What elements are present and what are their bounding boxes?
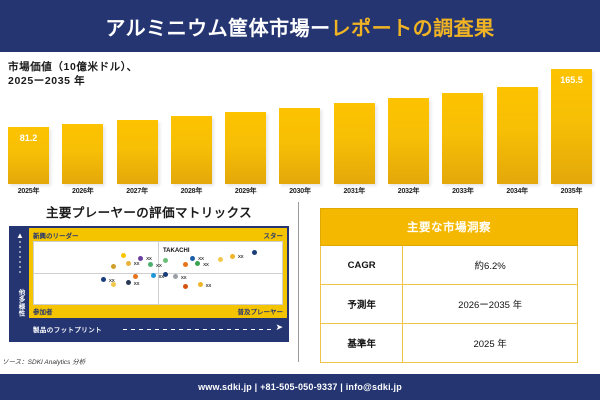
bar-column bbox=[225, 62, 266, 184]
matrix-data-point bbox=[230, 254, 235, 259]
y-axis-dashed-line bbox=[20, 241, 21, 275]
matrix-data-point-label: XX bbox=[206, 283, 212, 288]
x-axis-tick-label: 2030年 bbox=[279, 186, 320, 200]
matrix-data-point bbox=[148, 262, 153, 267]
matrix-data-point bbox=[111, 264, 116, 269]
section-divider bbox=[298, 202, 299, 362]
insight-value-cell: 約6.2% bbox=[403, 246, 578, 285]
bar bbox=[334, 103, 375, 184]
matrix-data-point bbox=[101, 277, 106, 282]
matrix-data-point bbox=[138, 256, 143, 261]
key-insights-section: 主要な市場洞察 CAGR約6.2%予測年2026ー2035 年基準年2025 年 bbox=[298, 200, 600, 368]
key-insights-body: CAGR約6.2%予測年2026ー2035 年基準年2025 年 bbox=[321, 246, 578, 363]
quadrant-label-participants: 参加者 bbox=[33, 306, 53, 316]
bar-column bbox=[279, 62, 320, 184]
x-axis-tick-label: 2029年 bbox=[225, 186, 266, 200]
x-axis-tick-label: 2025年 bbox=[8, 186, 49, 200]
page-title-accent: レポートの調査果 bbox=[331, 18, 495, 40]
matrix-data-point bbox=[190, 256, 195, 261]
bar bbox=[225, 112, 266, 184]
page-title: アルミニウム筐体市場ーレポートの調査果 bbox=[105, 12, 494, 41]
x-axis-tick-label: 2035年 bbox=[551, 186, 592, 200]
quadrant-label-emerging-leaders: 新興のリーダー bbox=[33, 230, 79, 240]
source-note: ソース：SDKI Analytics 分析 bbox=[2, 356, 85, 366]
x-axis-tick-label: 2031年 bbox=[334, 186, 375, 200]
matrix-data-point bbox=[173, 274, 178, 279]
bar-column bbox=[388, 62, 429, 184]
x-axis-dashed-line bbox=[123, 329, 271, 330]
x-axis-tick-label: 2027年 bbox=[117, 186, 158, 200]
matrix-data-point-label: XX bbox=[238, 254, 244, 259]
bar-column: 165.5 bbox=[551, 62, 592, 184]
matrix-scatter-plot: TAKACHI XXXXXXXXXXXXXXXXXXXXXX bbox=[33, 241, 283, 305]
quadrant-label-stars: スター bbox=[264, 230, 284, 240]
bar bbox=[442, 93, 483, 184]
matrix-data-point bbox=[126, 280, 131, 285]
x-axis-tick-label: 2034年 bbox=[497, 186, 538, 200]
x-axis-tick-label: 2026年 bbox=[62, 186, 103, 200]
matrix-data-point bbox=[151, 273, 156, 278]
evaluation-matrix-section: 主要プレーヤーの評価マトリックス ▲ 他多様性・原価 新興のリーダー スター 参… bbox=[0, 200, 298, 368]
table-row: 予測年2026ー2035 年 bbox=[321, 285, 578, 324]
matrix-data-point-label: XX bbox=[146, 256, 152, 261]
matrix-quadrant-area: 新興のリーダー スター 参加者 普及プレーヤー TAKACHI XXXXXXXX… bbox=[29, 228, 287, 318]
x-axis-arrow-icon: ➤ bbox=[275, 323, 283, 332]
bar-chart-section: 市場価値（10億米ドル）、 2025ー2035 年 81.2165.5 2025… bbox=[0, 52, 600, 200]
page-footer: www.sdki.jp | +81-505-050-9337 | info@sd… bbox=[0, 374, 600, 400]
x-axis-tick-label: 2032年 bbox=[388, 186, 429, 200]
key-insights-table: 主要な市場洞察 CAGR約6.2%予測年2026ー2035 年基準年2025 年 bbox=[320, 208, 578, 363]
bar bbox=[62, 124, 103, 184]
insight-value-cell: 2025 年 bbox=[403, 324, 578, 363]
matrix-data-point bbox=[183, 284, 188, 289]
footer-contact-text: www.sdki.jp | +81-505-050-9337 | info@sd… bbox=[198, 382, 402, 392]
bar-chart-x-axis: 2025年2026年2027年2028年2029年2030年2031年2032年… bbox=[8, 186, 592, 200]
insight-value-cell: 2026ー2035 年 bbox=[403, 285, 578, 324]
table-row: 基準年2025 年 bbox=[321, 324, 578, 363]
matrix-data-point-label: XX bbox=[203, 262, 209, 267]
y-axis-arrow-icon: ▲ bbox=[16, 232, 24, 240]
bar bbox=[117, 120, 158, 184]
matrix-data-point-label: XX bbox=[181, 275, 187, 280]
bar-column bbox=[171, 62, 212, 184]
bar-column bbox=[117, 62, 158, 184]
page-header: アルミニウム筐体市場ーレポートの調査果 bbox=[0, 0, 600, 52]
matrix-data-point bbox=[133, 274, 138, 279]
bar-chart-plot-area: 81.2165.5 bbox=[8, 62, 592, 184]
matrix-frame: ▲ 他多様性・原価 新興のリーダー スター 参加者 普及プレーヤー TAKACH… bbox=[9, 226, 289, 342]
x-axis-tick-label: 2033年 bbox=[442, 186, 483, 200]
bar-column bbox=[334, 62, 375, 184]
bar: 81.2 bbox=[8, 127, 49, 184]
matrix-data-point bbox=[163, 258, 168, 263]
bar bbox=[171, 116, 212, 184]
matrix-data-point bbox=[111, 282, 116, 287]
bar-column bbox=[62, 62, 103, 184]
insight-label-cell: CAGR bbox=[321, 246, 403, 285]
insight-label-cell: 基準年 bbox=[321, 324, 403, 363]
matrix-data-point bbox=[195, 261, 200, 266]
matrix-data-point bbox=[163, 272, 168, 277]
bar-value-label: 165.5 bbox=[551, 75, 592, 85]
bar-column bbox=[442, 62, 483, 184]
x-axis-tick-label: 2028年 bbox=[171, 186, 212, 200]
key-insights-header: 主要な市場洞察 bbox=[321, 209, 578, 246]
quadrant-label-pervasive-players: 普及プレーヤー bbox=[238, 306, 284, 316]
matrix-x-axis: 製品のフットプリント ➤ bbox=[11, 318, 287, 340]
matrix-data-point bbox=[218, 257, 223, 262]
table-row: CAGR約6.2% bbox=[321, 246, 578, 285]
matrix-data-point bbox=[121, 253, 126, 258]
bar bbox=[388, 98, 429, 184]
matrix-data-point bbox=[198, 282, 203, 287]
matrix-data-point bbox=[252, 250, 257, 255]
bar-column bbox=[497, 62, 538, 184]
matrix-data-point-label: XX bbox=[156, 263, 162, 268]
matrix-title: 主要プレーヤーの評価マトリックス bbox=[0, 202, 298, 221]
bar bbox=[497, 87, 538, 184]
bar-value-label: 81.2 bbox=[8, 133, 49, 143]
matrix-data-point bbox=[183, 262, 188, 267]
page-title-main: アルミニウム筐体市場ー bbox=[105, 18, 330, 40]
x-axis-label: 製品のフットプリント bbox=[33, 324, 102, 334]
matrix-data-point-label: XX bbox=[134, 261, 140, 266]
bar bbox=[279, 108, 320, 184]
matrix-highlight-label: TAKACHI bbox=[163, 248, 190, 254]
bar-column: 81.2 bbox=[8, 62, 49, 184]
matrix-data-point bbox=[126, 261, 131, 266]
insight-label-cell: 予測年 bbox=[321, 285, 403, 324]
bar: 165.5 bbox=[551, 69, 592, 184]
matrix-data-point-label: XX bbox=[134, 281, 140, 286]
